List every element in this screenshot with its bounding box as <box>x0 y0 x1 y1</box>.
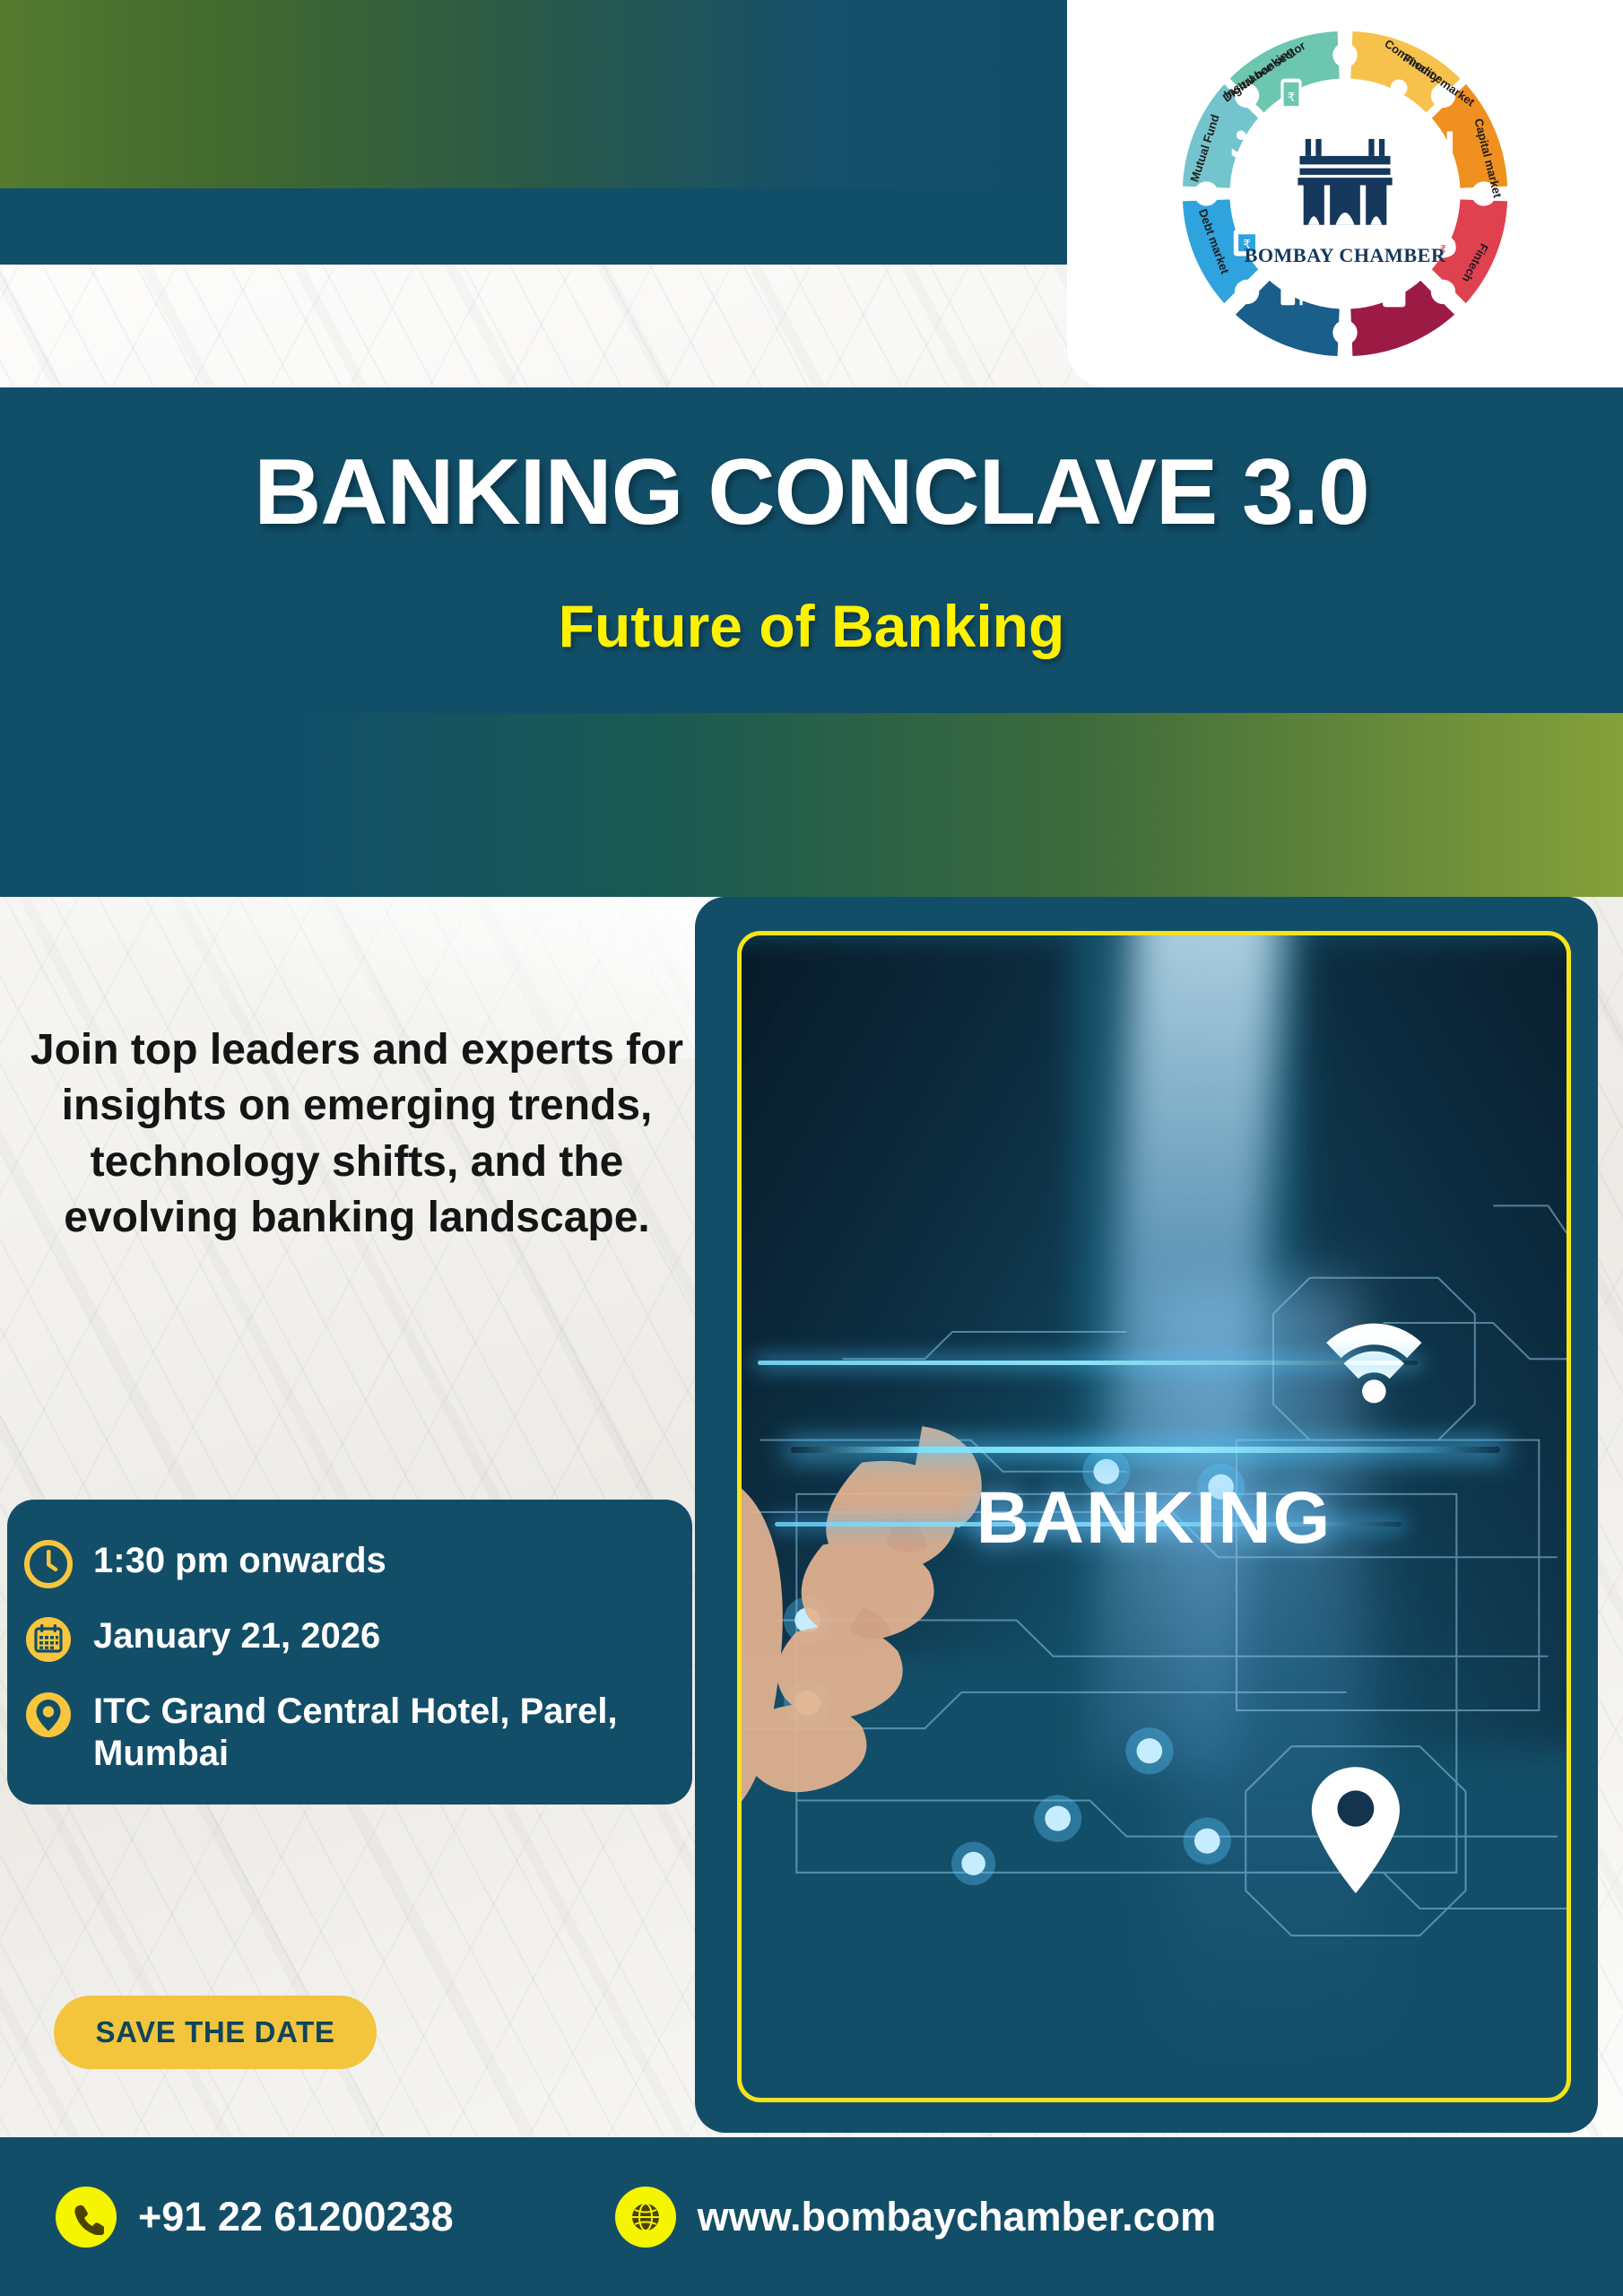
logo-card: ₹ ₹ <box>1067 0 1623 387</box>
detail-time-text: 1:30 pm onwards <box>93 1537 386 1582</box>
banking-image: BANKING <box>737 931 1571 2102</box>
logo-wheel-icon: ₹ ₹ <box>1152 14 1538 373</box>
detail-row-date: January 21, 2026 <box>23 1613 692 1665</box>
footer-website-text: www.bombaychamber.com <box>698 2194 1217 2240</box>
bombay-chamber-logo: ₹ ₹ <box>1152 14 1538 373</box>
detail-row-time: 1:30 pm onwards <box>23 1537 692 1589</box>
footer-website[interactable]: www.bombaychamber.com <box>615 2187 1217 2248</box>
page-subtitle: Future of Banking <box>0 592 1623 660</box>
globe-icon <box>615 2187 676 2248</box>
detail-date-text: January 21, 2026 <box>93 1613 380 1657</box>
glow-line-top <box>758 1361 1418 1365</box>
map-pin-icon <box>1312 1767 1400 1893</box>
event-description: Join top leaders and experts for insight… <box>25 1022 689 1247</box>
accent-gradient-band <box>305 713 1623 897</box>
svg-text:₹: ₹ <box>1288 91 1296 105</box>
clock-icon <box>23 1539 74 1589</box>
calendar-icon <box>23 1614 74 1665</box>
banking-caption: BANKING <box>742 1476 1567 1561</box>
hand-touching-screen <box>737 1400 1080 1888</box>
save-the-date-button[interactable]: SAVE THE DATE <box>54 1996 377 2069</box>
page-title: BANKING CONCLAVE 3.0 <box>0 439 1623 546</box>
top-solid-banner <box>0 188 1072 265</box>
banking-image-panel: BANKING <box>695 897 1598 2133</box>
footer-bar: +91 22 61200238 www.bombaychamber.com <box>0 2137 1623 2296</box>
location-pin-icon <box>23 1690 74 1740</box>
detail-row-venue: ITC Grand Central Hotel, Parel, Mumbai <box>23 1688 692 1775</box>
top-gradient-banner <box>0 0 1072 188</box>
detail-venue-text: ITC Grand Central Hotel, Parel, Mumbai <box>93 1688 692 1775</box>
footer-phone[interactable]: +91 22 61200238 <box>56 2187 454 2248</box>
footer-phone-text: +91 22 61200238 <box>138 2194 454 2240</box>
phone-icon <box>56 2187 117 2248</box>
glow-line-middle <box>791 1447 1500 1453</box>
logo-org-name: BOMBAY CHAMBER <box>1245 244 1446 266</box>
event-details-card: 1:30 pm onwards January 21, 2026 <box>7 1500 692 1805</box>
